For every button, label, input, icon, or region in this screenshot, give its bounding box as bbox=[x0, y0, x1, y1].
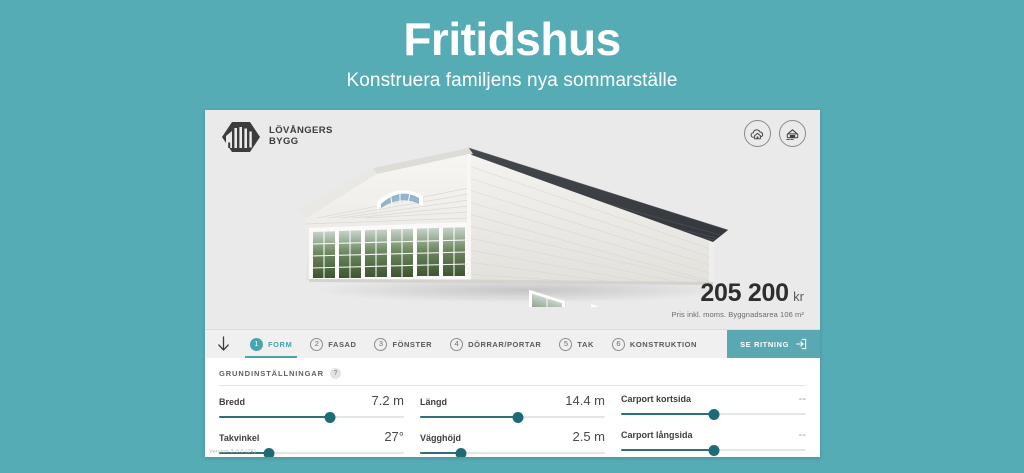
house-viewport[interactable]: LÖVÅNGERS BYGG bbox=[205, 110, 820, 329]
settings-header: GRUNDINSTÄLLNINGAR ? bbox=[219, 368, 806, 386]
slider-thumb[interactable] bbox=[263, 448, 274, 458]
collapse-panel-button[interactable] bbox=[205, 330, 241, 358]
control-label: Takvinkel bbox=[219, 433, 259, 443]
control-header: Vägghöjd 2.5 m bbox=[420, 429, 605, 444]
slider-thumb[interactable] bbox=[513, 412, 524, 423]
slider-fill bbox=[621, 413, 714, 416]
tab-form[interactable]: 1 FORM bbox=[241, 330, 301, 358]
tab-label: DÖRRAR/PORTAR bbox=[468, 340, 541, 349]
control-header: Längd 14.4 m bbox=[420, 393, 605, 408]
control-header: Carport långsida -- bbox=[621, 429, 806, 441]
slider-thumb[interactable] bbox=[325, 412, 336, 423]
control-value: -- bbox=[799, 429, 806, 441]
control-label: Vägghöjd bbox=[420, 433, 461, 443]
control-value: 27° bbox=[384, 429, 404, 444]
version-label: Version 2.0.0 (24) bbox=[209, 449, 256, 455]
price-display: 205 200 kr Pris inkl. moms. Byggnadsarea… bbox=[672, 279, 804, 319]
page-subtitle: Konstruera familjens nya sommarställe bbox=[0, 70, 1024, 92]
price-note: Pris inkl. moms. Byggnadsarea 106 m² bbox=[672, 310, 804, 319]
slider-fill bbox=[219, 416, 330, 419]
settings-title: GRUNDINSTÄLLNINGAR bbox=[219, 369, 324, 378]
control-label: Carport långsida bbox=[621, 430, 693, 440]
slider-thumb[interactable] bbox=[708, 409, 719, 420]
control-label: Längd bbox=[420, 397, 447, 407]
se-ritning-label: SE RITNING bbox=[740, 340, 789, 349]
slider-thumb[interactable] bbox=[455, 448, 466, 458]
control-value: 2.5 m bbox=[572, 429, 605, 444]
configurator-app: LÖVÅNGERS BYGG bbox=[205, 110, 820, 457]
tab-label: FASAD bbox=[328, 340, 356, 349]
tab-number: 2 bbox=[310, 338, 323, 351]
page-title: Fritidshus bbox=[0, 14, 1024, 65]
slider-thumb[interactable] bbox=[708, 445, 719, 456]
slider-fill bbox=[621, 449, 714, 452]
slider-carport-langsida[interactable] bbox=[621, 444, 806, 456]
help-icon[interactable]: ? bbox=[330, 368, 341, 379]
page-header: Fritidshus Konstruera familjens nya somm… bbox=[0, 0, 1024, 92]
tab-number: 1 bbox=[250, 338, 263, 351]
control-label: Bredd bbox=[219, 397, 245, 407]
control-bredd: Bredd 7.2 m bbox=[219, 393, 404, 429]
price-amount: 205 200 bbox=[700, 279, 788, 307]
tab-number: 5 bbox=[559, 338, 572, 351]
control-header: Takvinkel 27° bbox=[219, 429, 404, 444]
control-header: Bredd 7.2 m bbox=[219, 393, 404, 408]
control-vagghojd: Vägghöjd 2.5 m bbox=[420, 429, 605, 457]
slider-bredd[interactable] bbox=[219, 411, 404, 423]
tab-number: 6 bbox=[612, 338, 625, 351]
arrow-down-icon bbox=[217, 336, 230, 352]
tab-number: 3 bbox=[374, 338, 387, 351]
tab-fonster[interactable]: 3 FÖNSTER bbox=[365, 330, 441, 358]
settings-panel: GRUNDINSTÄLLNINGAR ? Bredd 7.2 m Längd 1… bbox=[205, 358, 820, 457]
slider-vagghojd[interactable] bbox=[420, 447, 605, 457]
tab-number: 4 bbox=[450, 338, 463, 351]
tab-tak[interactable]: 5 TAK bbox=[550, 330, 603, 358]
slider-fill bbox=[420, 416, 518, 419]
control-label: Carport kortsida bbox=[621, 394, 691, 404]
tab-label: KONSTRUKTION bbox=[630, 340, 697, 349]
control-carport-kortsida: Carport kortsida -- bbox=[621, 393, 806, 429]
tab-list: 1 FORM 2 FASAD 3 FÖNSTER 4 DÖRRAR/PORTAR… bbox=[241, 330, 727, 358]
control-value: 7.2 m bbox=[371, 393, 404, 408]
tab-dorrar-portar[interactable]: 4 DÖRRAR/PORTAR bbox=[441, 330, 550, 358]
price-currency: kr bbox=[793, 289, 804, 304]
tab-konstruktion[interactable]: 6 KONSTRUKTION bbox=[603, 330, 706, 358]
control-header: Carport kortsida -- bbox=[621, 393, 806, 405]
tab-label: FORM bbox=[268, 340, 292, 349]
se-ritning-button[interactable]: SE RITNING bbox=[727, 330, 820, 358]
control-value: 14.4 m bbox=[565, 393, 605, 408]
open-external-icon bbox=[795, 338, 807, 350]
slider-langd[interactable] bbox=[420, 411, 605, 423]
slider-carport-kortsida[interactable] bbox=[621, 408, 806, 420]
side-window-2 bbox=[591, 304, 615, 307]
price-row: 205 200 kr bbox=[672, 279, 804, 308]
step-tabbar: 1 FORM 2 FASAD 3 FÖNSTER 4 DÖRRAR/PORTAR… bbox=[205, 329, 820, 358]
control-langd: Längd 14.4 m bbox=[420, 393, 605, 429]
tab-label: TAK bbox=[577, 340, 594, 349]
settings-grid: Bredd 7.2 m Längd 14.4 m bbox=[219, 393, 806, 457]
gable-glass-facade bbox=[309, 222, 469, 280]
control-value: -- bbox=[799, 393, 806, 405]
tab-fasad[interactable]: 2 FASAD bbox=[301, 330, 365, 358]
control-carport-langsida: Carport långsida -- bbox=[621, 429, 806, 457]
tab-label: FÖNSTER bbox=[392, 340, 432, 349]
